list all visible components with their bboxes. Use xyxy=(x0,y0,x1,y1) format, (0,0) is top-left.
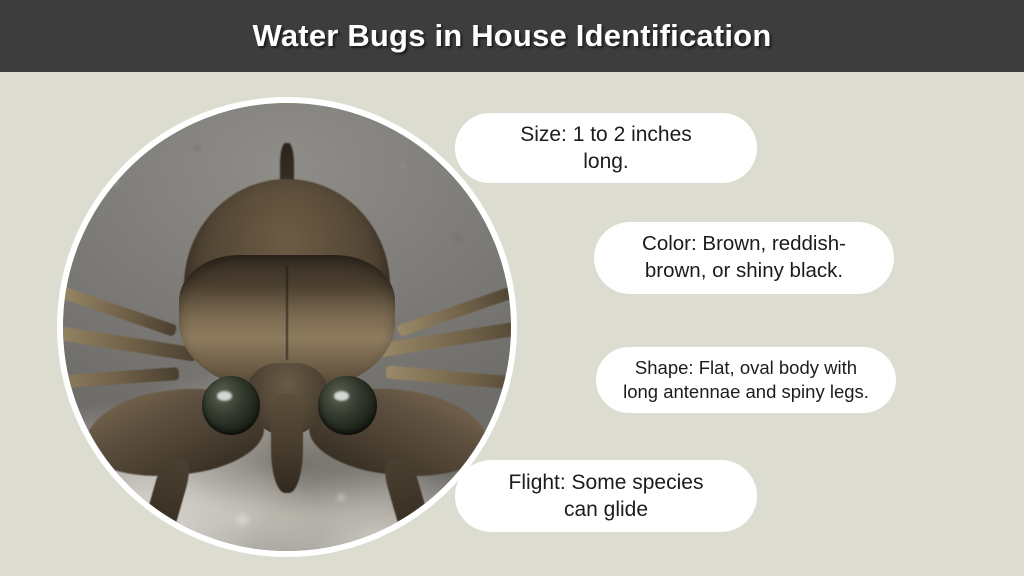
bug-rostrum xyxy=(271,394,302,493)
water-bug-photo xyxy=(57,97,517,557)
callout-size-line-1: Size: 1 to 2 inches xyxy=(520,121,692,148)
callout-size-line-2: long. xyxy=(520,148,692,175)
callout-flight-line-1: Flight: Some species xyxy=(509,469,704,496)
callout-shape: Shape: Flat, oval body with long antenna… xyxy=(596,347,896,413)
callout-flight-text: Flight: Some species can glide xyxy=(509,469,704,524)
photo-inner xyxy=(63,103,511,551)
callout-shape-line-1: Shape: Flat, oval body with xyxy=(623,356,869,380)
callout-shape-text: Shape: Flat, oval body with long antenna… xyxy=(623,356,869,404)
callout-color-line-1: Color: Brown, reddish- xyxy=(642,231,846,258)
bug-mid-leg-left xyxy=(63,324,198,362)
bug-eye-left xyxy=(202,376,260,434)
callout-size-text: Size: 1 to 2 inches long. xyxy=(520,121,692,176)
callout-color-text: Color: Brown, reddish- brown, or shiny b… xyxy=(642,231,846,284)
page-title: Water Bugs in House Identification xyxy=(253,18,772,54)
bug-mid-leg-left-2 xyxy=(63,367,180,390)
header-bar: Water Bugs in House Identification xyxy=(0,0,1024,72)
giant-water-bug-illustration xyxy=(63,103,511,551)
bug-eye-right xyxy=(318,376,376,434)
bug-mid-leg-right-2 xyxy=(385,365,511,392)
bug-eye-glint-right xyxy=(334,391,349,400)
bug-mid-leg-right xyxy=(376,319,511,358)
callout-size: Size: 1 to 2 inches long. xyxy=(455,113,757,183)
callout-color: Color: Brown, reddish- brown, or shiny b… xyxy=(594,222,894,294)
callout-shape-line-2: long antennae and spiny legs. xyxy=(623,380,869,404)
callout-color-line-2: brown, or shiny black. xyxy=(642,258,846,285)
callout-flight: Flight: Some species can glide xyxy=(455,460,757,532)
callout-flight-line-2: can glide xyxy=(509,496,704,523)
bug-eye-glint-left xyxy=(217,391,232,400)
infographic-canvas: Size: 1 to 2 inches long. Color: Brown, … xyxy=(0,72,1024,576)
